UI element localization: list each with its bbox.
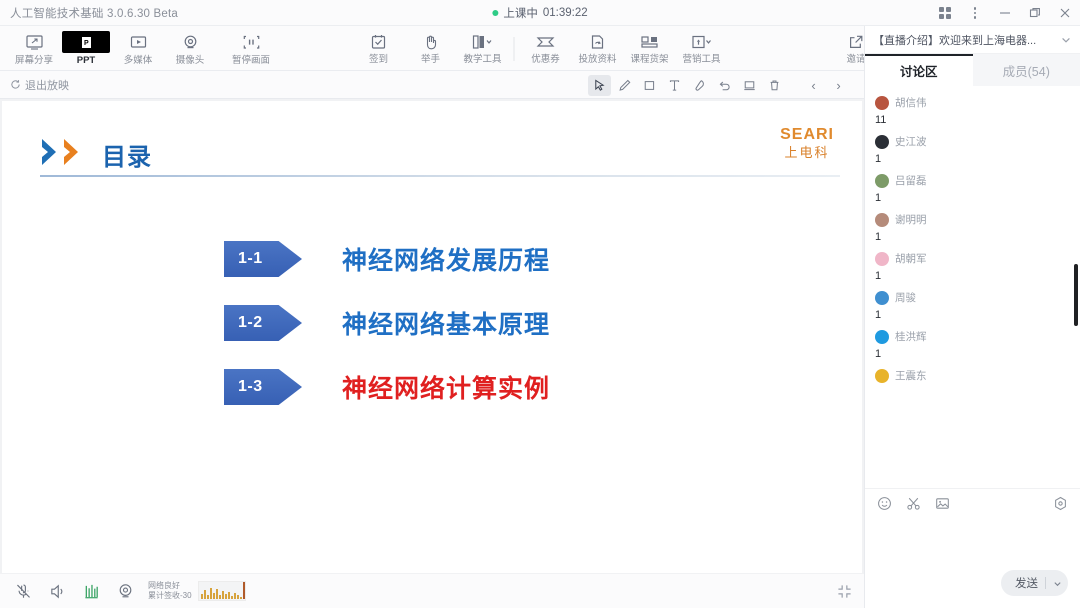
refresh-icon: [10, 79, 21, 90]
avatar: [875, 330, 889, 344]
toc-badge: 1-3: [224, 369, 302, 405]
window-controls: [930, 0, 1080, 26]
panel-tabs: 讨论区 成员(54): [865, 54, 1080, 86]
toc-badge: 1-1: [224, 241, 302, 277]
chat-username: 胡朝军: [895, 251, 927, 266]
camera-icon: [182, 33, 199, 52]
eraser-tool[interactable]: [688, 75, 711, 96]
tab-members-label: 成员(54): [1003, 61, 1050, 80]
toolbar-pause-frame-label: 暂停画面: [232, 55, 270, 66]
teaching-tools-icon: [472, 33, 494, 52]
toolbar-multimedia[interactable]: 多媒体: [112, 27, 164, 70]
camera-status-icon[interactable]: [110, 576, 140, 606]
avatar: [875, 213, 889, 227]
live-dot-icon: [492, 10, 498, 16]
multimedia-icon: [130, 33, 147, 52]
svg-text:P: P: [84, 40, 89, 47]
message-composer[interactable]: 发送: [865, 518, 1080, 608]
toolbar-ppt-label: PPT: [77, 55, 95, 66]
toc-badge-number: 1-2: [238, 314, 263, 332]
send-divider: [1045, 577, 1046, 589]
chat-username: 胡信伟: [895, 95, 927, 110]
tab-discussion-label: 讨论区: [900, 61, 938, 80]
slide-header-rule: [40, 175, 840, 177]
course-shelf-icon: [641, 33, 659, 52]
chat-message: 胡信伟 11: [865, 93, 1080, 132]
chat-text: 1: [875, 309, 1070, 321]
chat-message-list[interactable]: 胡信伟 11 史江波 1 吕留磊 1: [865, 87, 1080, 484]
tab-discussion[interactable]: 讨论区: [865, 54, 973, 86]
avatar: [875, 135, 889, 149]
toolbar-teaching-tools[interactable]: 教学工具: [457, 27, 509, 70]
delete-tool[interactable]: [763, 75, 786, 96]
close-icon[interactable]: [1050, 0, 1080, 26]
network-quality-label: 网络良好: [148, 581, 192, 591]
toolbar-course-shelf-label: 课程货架: [630, 54, 668, 65]
chevron-decoration-icon: [40, 137, 98, 167]
avatar: [875, 252, 889, 266]
avatar: [875, 174, 889, 188]
checkin-icon: [371, 33, 387, 52]
more-vertical-icon[interactable]: [960, 0, 990, 26]
exit-presentation-button[interactable]: 退出放映: [10, 77, 69, 93]
send-button-label: 发送: [1015, 575, 1038, 591]
chat-text: 1: [875, 270, 1070, 282]
chat-scrollbar[interactable]: [1074, 264, 1078, 326]
avatar: [875, 291, 889, 305]
toolbar-course-shelf[interactable]: 课程货架: [624, 27, 676, 70]
grid-apps-icon[interactable]: [930, 0, 960, 26]
bottom-status-bar: 网络良好 累计签收-30: [0, 574, 864, 608]
exit-presentation-label: 退出放映: [25, 77, 69, 93]
avatar: [875, 369, 889, 383]
chat-message: 史江波 1: [865, 132, 1080, 171]
undo-tool[interactable]: [713, 75, 736, 96]
toolbar-marketing-tools[interactable]: 营销工具: [676, 27, 728, 70]
seari-logo-cn: 上电科: [780, 147, 834, 160]
toc-item: 1-2 神经网络基本原理: [224, 291, 550, 355]
maximize-icon[interactable]: [1020, 0, 1050, 26]
chat-text: 1: [875, 348, 1070, 360]
prev-slide-label: ‹: [811, 78, 815, 93]
app-title: 人工智能技术基础 3.0.6.30 Beta: [10, 5, 178, 21]
marketing-tools-icon: [691, 33, 713, 52]
room-title: 【直播介绍】欢迎来到上海电器...: [873, 32, 1060, 48]
right-side-panel: 【直播介绍】欢迎来到上海电器... 讨论区 成员(54) 胡信伟 11: [864, 26, 1080, 608]
emoji-icon[interactable]: [877, 496, 892, 511]
toolbar-invite-label: 邀请: [846, 54, 865, 65]
chat-text: 1: [875, 192, 1070, 204]
slide-canvas[interactable]: 目录 SEARI 上电科 1-1 神经网络发展历程 1-2: [2, 101, 862, 573]
cursor-tool[interactable]: [588, 75, 611, 96]
toolbar-divider: [514, 37, 515, 61]
toolbar-send-material[interactable]: 投放资料: [572, 27, 624, 70]
toolbar-center-group: 签到 举手 教学工具 优惠券: [353, 26, 728, 71]
live-classroom-window: 人工智能技术基础 3.0.6.30 Beta 上课中 01:39:22: [0, 0, 1080, 608]
image-icon[interactable]: [935, 496, 950, 511]
toolbar-raise-hand-label: 举手: [421, 54, 440, 65]
screen-share-icon: [26, 33, 43, 52]
raise-hand-icon: [423, 33, 439, 52]
annotation-tools: ‹ ›: [588, 71, 850, 99]
next-slide-button[interactable]: ›: [827, 75, 850, 96]
toolbar-coupon-label: 优惠券: [531, 54, 560, 65]
invite-icon: [848, 33, 864, 52]
network-status: 网络良好 累计签收-30: [148, 581, 192, 601]
network-detail-label: 累计签收-30: [148, 591, 192, 601]
toolbar-checkin-label: 签到: [369, 54, 388, 65]
toolbar-screen-share[interactable]: 屏幕分享: [8, 27, 60, 70]
toolbar-checkin[interactable]: 签到: [353, 27, 405, 70]
toc-item-text: 神经网络发展历程: [342, 241, 550, 277]
coupon-icon: [537, 33, 555, 52]
toc-item: 1-1 神经网络发展历程: [224, 227, 550, 291]
toc-badge-number: 1-1: [238, 250, 263, 268]
chat-username: 谢明明: [895, 212, 927, 227]
toolbar-send-material-label: 投放资料: [578, 54, 616, 65]
audio-levels-icon[interactable]: [76, 576, 106, 606]
chat-username: 史江波: [895, 134, 927, 149]
chat-message: 吕留磊 1: [865, 171, 1080, 210]
chat-message: 王震东: [865, 366, 1080, 389]
toc-item-text: 神经网络计算实例: [342, 369, 550, 405]
audio-waveform: [198, 581, 246, 601]
slide-header: 目录 SEARI 上电科: [40, 127, 840, 179]
toolbar-coupon[interactable]: 优惠券: [520, 27, 572, 70]
live-status-label: 上课中: [503, 5, 538, 21]
toolbar-marketing-tools-label: 营销工具: [682, 54, 720, 65]
next-slide-label: ›: [836, 78, 840, 93]
seari-logo: SEARI 上电科: [780, 127, 834, 160]
pause-frame-icon: [243, 33, 260, 52]
toc-badge-number: 1-3: [238, 378, 263, 396]
prev-slide-button[interactable]: ‹: [802, 75, 825, 96]
slide-stage: 目录 SEARI 上电科 1-1 神经网络发展历程 1-2: [0, 99, 864, 574]
toolbar-camera[interactable]: 摄像头: [164, 27, 216, 70]
chat-text: 1: [875, 231, 1070, 243]
live-status: 上课中 01:39:22: [492, 5, 587, 21]
toolbar-ppt[interactable]: P PPT: [60, 27, 112, 70]
chat-message: 桂洪辉 1: [865, 327, 1080, 366]
title-bar: 人工智能技术基础 3.0.6.30 Beta 上课中 01:39:22: [0, 0, 1080, 26]
slide-toc-list: 1-1 神经网络发展历程 1-2 神经网络基本原理 1-3 神经网络计算实例: [224, 227, 550, 419]
microphone-muted-icon[interactable]: [8, 576, 38, 606]
tab-members[interactable]: 成员(54): [973, 54, 1080, 86]
chat-message: 周骏 1: [865, 288, 1080, 327]
chat-username: 王震东: [895, 368, 927, 383]
collapse-fullscreen-icon[interactable]: [837, 584, 852, 599]
chat-message: 胡朝军 1: [865, 249, 1080, 288]
text-tool[interactable]: [663, 75, 686, 96]
toolbar-pause-frame[interactable]: 暂停画面: [222, 27, 280, 70]
toolbar-left-group: 屏幕分享 P PPT 多媒体 摄像头: [8, 26, 280, 71]
room-header[interactable]: 【直播介绍】欢迎来到上海电器...: [865, 26, 1080, 54]
toc-item-text: 神经网络基本原理: [342, 305, 550, 341]
pen-tool[interactable]: [613, 75, 636, 96]
ppt-icon: P: [78, 33, 95, 52]
draw-toolbar: 退出放映: [0, 71, 864, 99]
chat-message: 谢明明 1: [865, 210, 1080, 249]
scissors-icon[interactable]: [906, 496, 921, 511]
slide-title: 目录: [102, 137, 152, 172]
chat-username: 吕留磊: [895, 173, 927, 188]
chevron-down-icon[interactable]: [1060, 34, 1072, 46]
chat-text: 1: [875, 153, 1070, 165]
toolbar-camera-label: 摄像头: [176, 55, 205, 66]
chat-username: 桂洪辉: [895, 329, 927, 344]
send-button[interactable]: 发送: [1001, 570, 1068, 596]
live-timer: 01:39:22: [543, 7, 588, 19]
seari-logo-en: SEARI: [780, 127, 834, 143]
toolbar-multimedia-label: 多媒体: [124, 55, 153, 66]
avatar: [875, 96, 889, 110]
chat-text: 11: [875, 114, 1070, 126]
toolbar-screen-share-label: 屏幕分享: [15, 55, 53, 66]
rectangle-tool[interactable]: [638, 75, 661, 96]
chevron-down-icon[interactable]: [1053, 579, 1062, 588]
speaker-icon[interactable]: [42, 576, 72, 606]
settings-icon[interactable]: [1053, 496, 1068, 511]
toc-badge: 1-2: [224, 305, 302, 341]
minimize-icon[interactable]: [990, 0, 1020, 26]
composer-toolbar: [865, 488, 1080, 518]
toolbar-teaching-tools-label: 教学工具: [463, 54, 501, 65]
send-material-icon: [590, 33, 606, 52]
toc-item: 1-3 神经网络计算实例: [224, 355, 550, 419]
screen-tool[interactable]: [738, 75, 761, 96]
chat-username: 周骏: [895, 290, 916, 305]
toolbar-raise-hand[interactable]: 举手: [405, 27, 457, 70]
